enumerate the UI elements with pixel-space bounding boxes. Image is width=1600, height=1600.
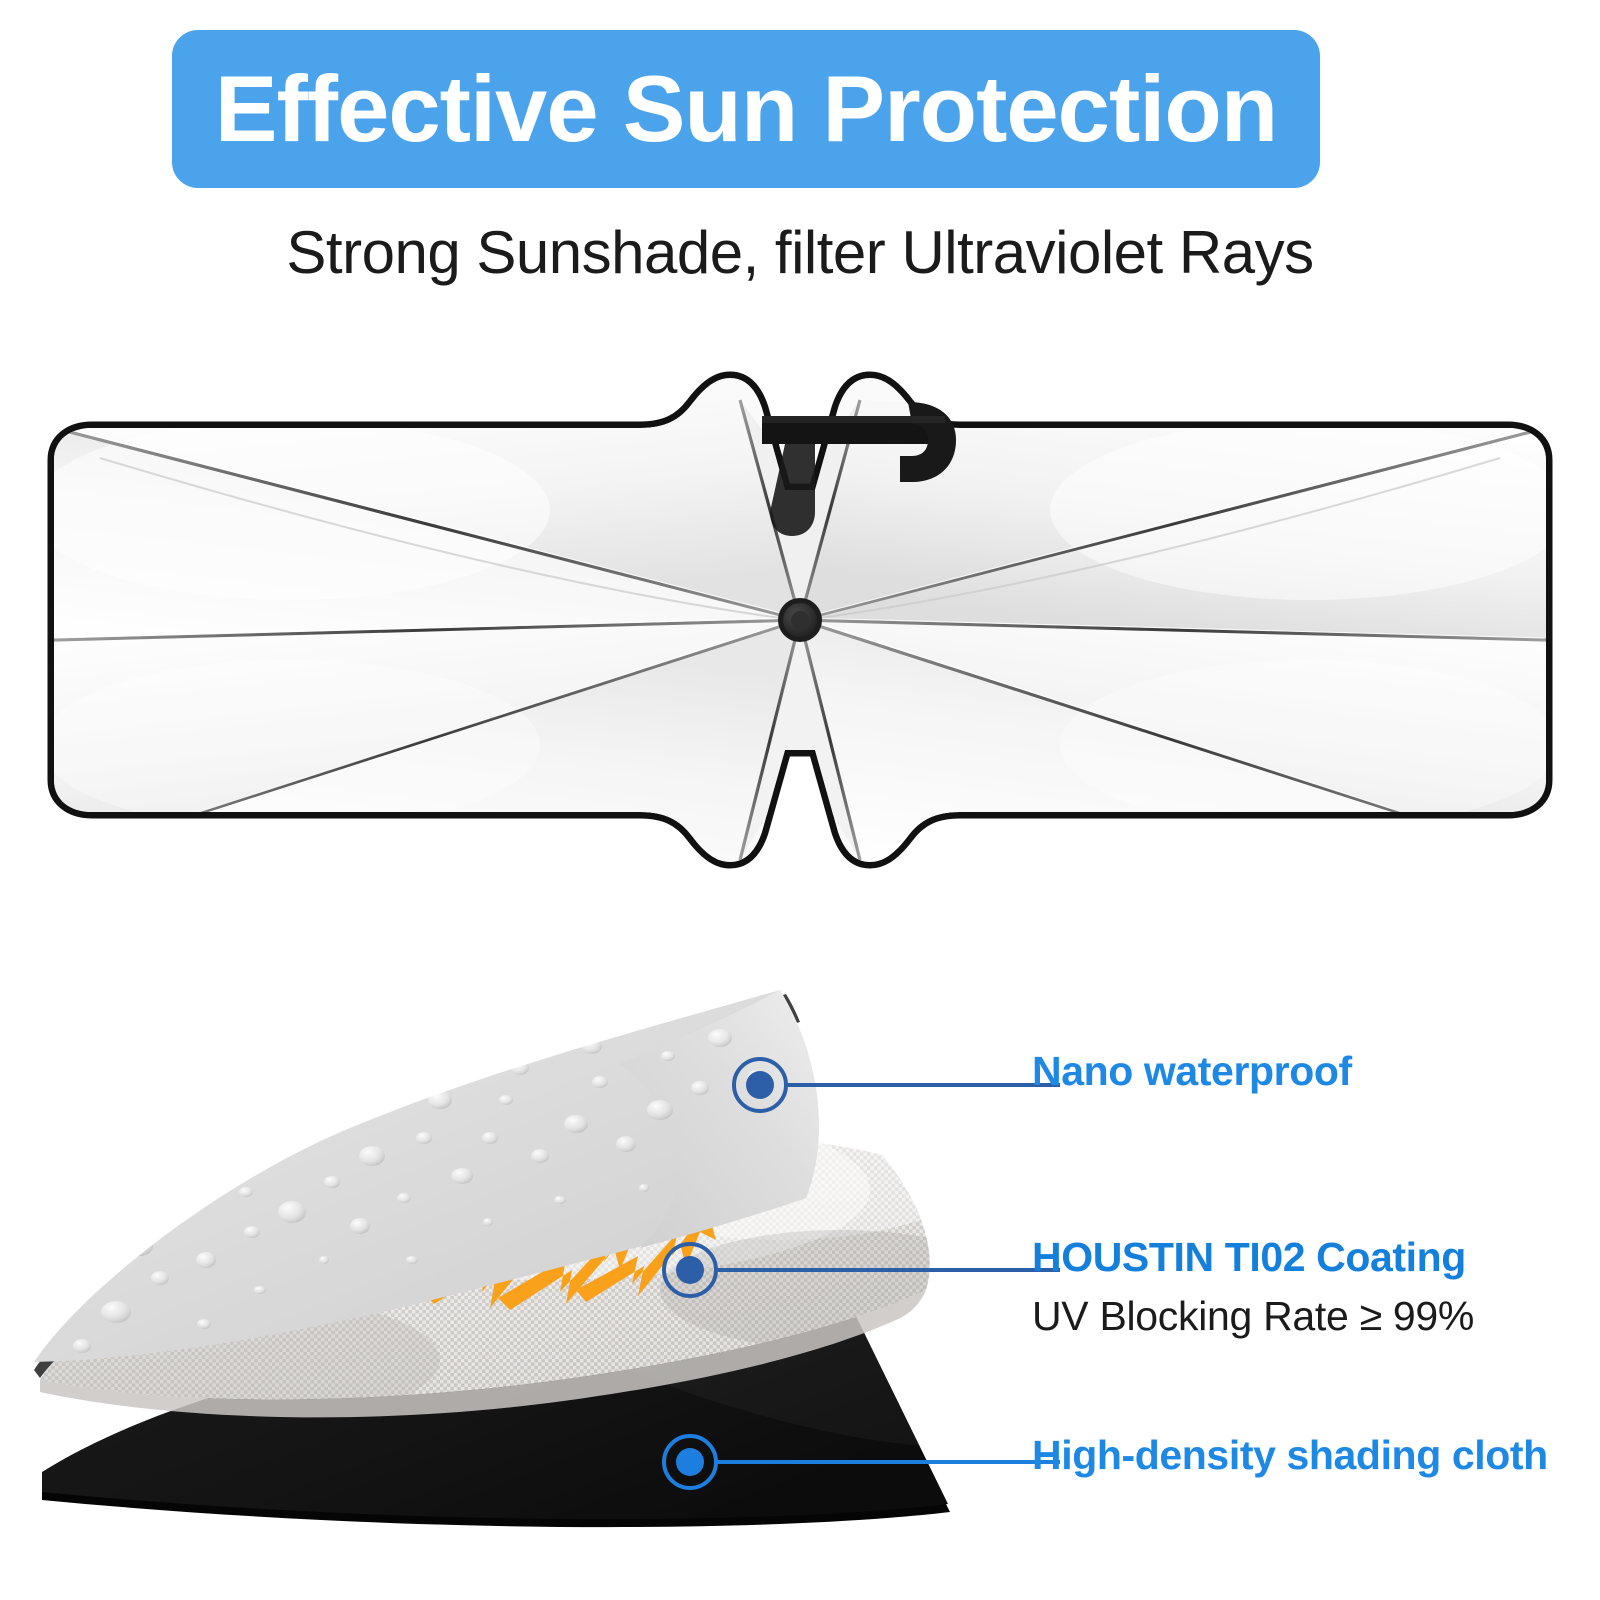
sunshade-illustration	[40, 340, 1560, 900]
header-banner: Effective Sun Protection	[172, 30, 1320, 188]
callout-shading-title: High-density shading cloth	[1032, 1432, 1548, 1479]
callout-high-density-shading: High-density shading cloth	[1032, 1432, 1548, 1479]
material-layers-diagram: UV	[20, 960, 1060, 1580]
callout-nano-title: Nano waterproof	[1032, 1048, 1352, 1095]
callout-coating-subtitle: UV Blocking Rate ≥ 99%	[1032, 1291, 1474, 1342]
product-sunshade-image	[40, 340, 1560, 900]
sunshade-center-hub	[778, 598, 822, 642]
page-title: Effective Sun Protection	[215, 62, 1277, 156]
page-subtitle: Strong Sunshade, filter Ultraviolet Rays	[0, 218, 1600, 287]
callout-coating-title: HOUSTIN TI02 Coating	[1032, 1234, 1474, 1281]
callout-houstin-coating: HOUSTIN TI02 Coating UV Blocking Rate ≥ …	[1032, 1234, 1474, 1342]
layers-illustration: UV	[20, 960, 1060, 1580]
callout-nano-waterproof: Nano waterproof	[1032, 1048, 1352, 1095]
